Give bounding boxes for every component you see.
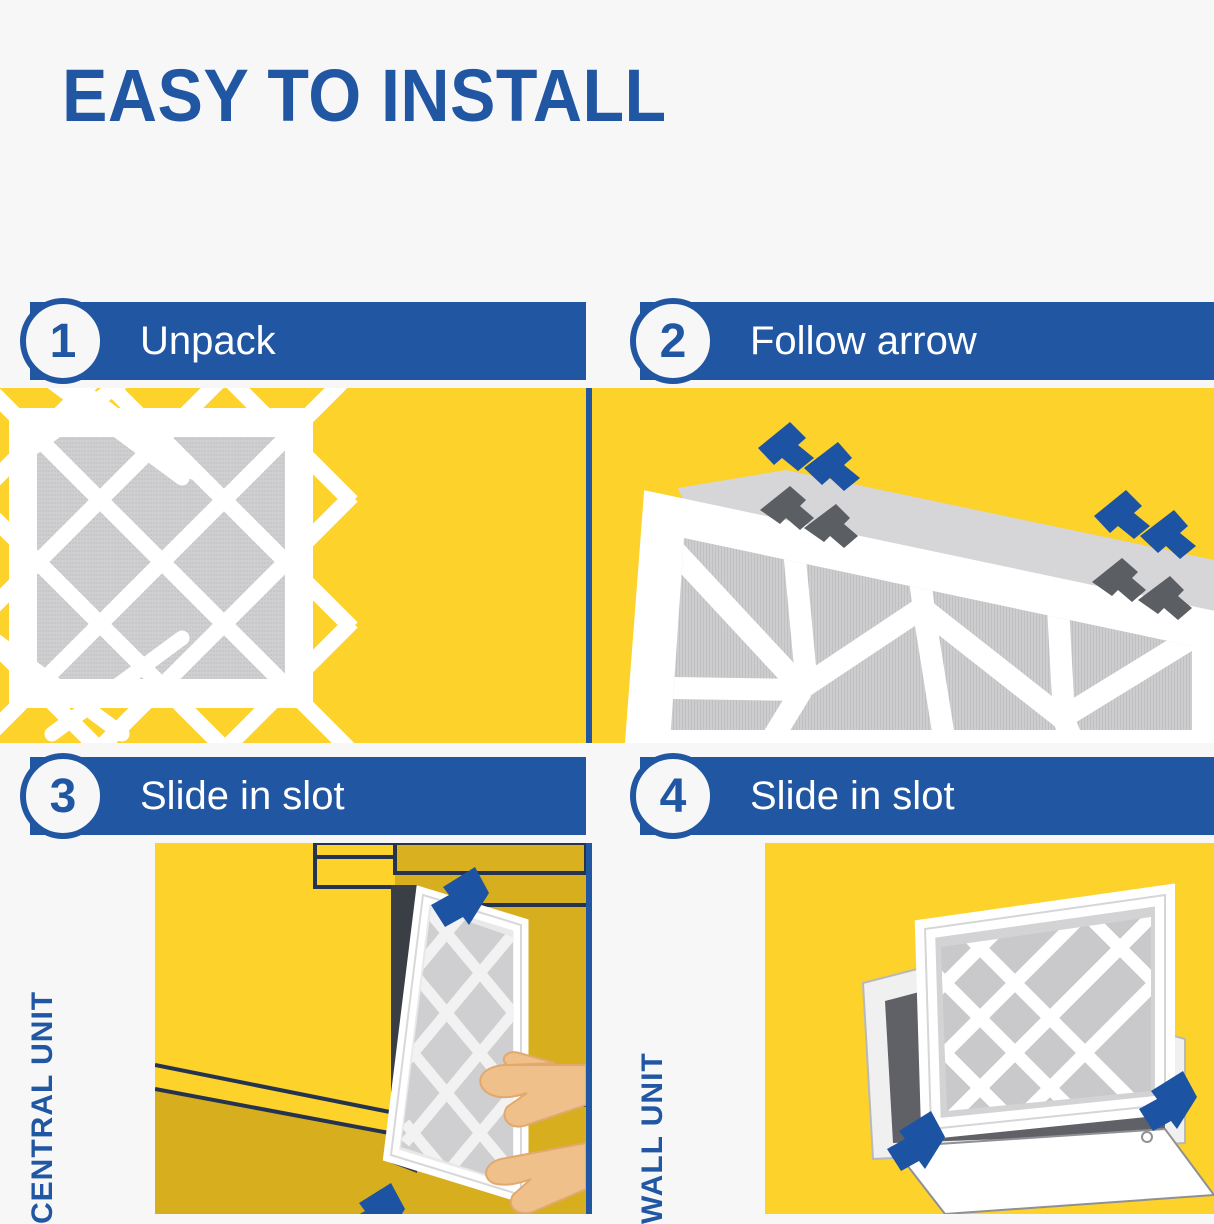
column-divider-top xyxy=(586,388,592,743)
step-4-illustration xyxy=(765,843,1214,1214)
step-1-number: 1 xyxy=(50,314,77,369)
step-3-illustration xyxy=(155,843,586,1214)
step-3-header: Slide in slot xyxy=(30,757,586,835)
step-4-badge: 4 xyxy=(630,753,716,839)
infographic-root: EASY TO INSTALL xyxy=(0,0,1214,1214)
step-3-badge: 3 xyxy=(20,753,106,839)
step-3-number: 3 xyxy=(50,769,77,824)
column-divider-bottom xyxy=(586,843,592,1214)
filter-into-wall-vent-grille-icon xyxy=(765,843,1214,1214)
step-4-header: Slide in slot xyxy=(640,757,1214,835)
step-1-badge: 1 xyxy=(20,298,106,384)
step-4-label: Slide in slot xyxy=(750,776,955,816)
step-2-badge: 2 xyxy=(630,298,716,384)
step-1-label: Unpack xyxy=(140,321,276,361)
step-1-illustration xyxy=(0,388,586,743)
step-2-number: 2 xyxy=(660,314,687,369)
tilted-filter-with-airflow-arrows-icon xyxy=(592,388,1214,743)
step-2-label: Follow arrow xyxy=(750,321,977,361)
page-title: EASY TO INSTALL xyxy=(62,56,667,136)
flat-filter-front-icon xyxy=(0,388,586,743)
step-1-header: Unpack xyxy=(30,302,586,380)
step-4-number: 4 xyxy=(660,769,687,824)
hands-inserting-filter-into-furnace-slot-icon xyxy=(155,843,586,1214)
step-2-header: Follow arrow xyxy=(640,302,1214,380)
step-3-label: Slide in slot xyxy=(140,776,345,816)
step-4-side-label: WALL UNIT xyxy=(636,1052,670,1224)
step-3-side-label: CENTRAL UNIT xyxy=(26,991,60,1224)
step-2-illustration xyxy=(592,388,1214,743)
